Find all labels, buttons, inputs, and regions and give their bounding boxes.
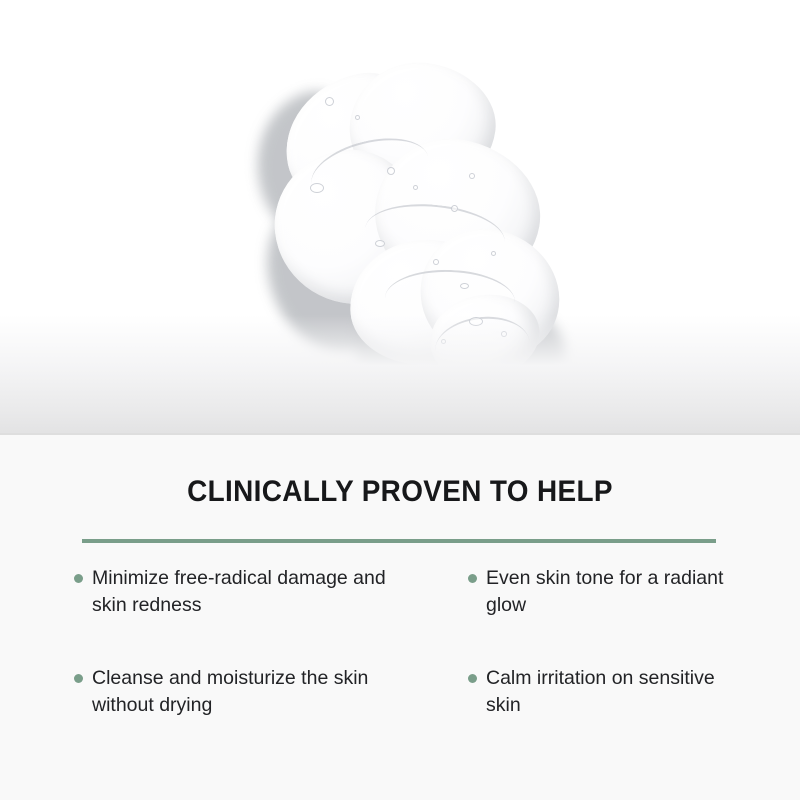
title-divider — [82, 539, 716, 543]
gel-bubble — [325, 97, 334, 106]
gel-bubble — [469, 173, 475, 179]
product-hero-image — [0, 0, 800, 435]
gel-bubble — [433, 259, 439, 265]
product-benefits-page: CLINICALLY PROVEN TO HELP Minimize free-… — [0, 0, 800, 800]
list-item: Minimize free-radical damage and skin re… — [0, 565, 405, 619]
bullet-dot-icon — [74, 674, 83, 683]
bullet-dot-icon — [468, 674, 477, 683]
benefit-text: Calm irritation on sensitive skin — [486, 665, 751, 719]
gel-bubble — [491, 251, 496, 256]
bullet-dot-icon — [468, 574, 477, 583]
list-item: Cleanse and moisturize the skin without … — [0, 665, 405, 719]
gel-bubble — [355, 115, 360, 120]
benefits-list: Minimize free-radical damage and skin re… — [0, 565, 800, 719]
gel-bubble — [413, 185, 418, 190]
gel-bubble — [310, 183, 324, 193]
benefits-row: Cleanse and moisturize the skin without … — [0, 665, 800, 719]
benefit-text: Minimize free-radical damage and skin re… — [92, 565, 392, 619]
bullet-dot-icon — [74, 574, 83, 583]
benefits-panel: CLINICALLY PROVEN TO HELP Minimize free-… — [0, 435, 800, 800]
benefit-text: Cleanse and moisturize the skin without … — [92, 665, 392, 719]
gel-bubble — [451, 205, 458, 212]
gel-bubble — [375, 240, 385, 247]
gel-bubble — [460, 283, 469, 289]
list-item: Even skin tone for a radiant glow — [405, 565, 800, 619]
page-title: CLINICALLY PROVEN TO HELP — [28, 475, 772, 509]
benefits-row: Minimize free-radical damage and skin re… — [0, 565, 800, 619]
list-item: Calm irritation on sensitive skin — [405, 665, 800, 719]
benefit-text: Even skin tone for a radiant glow — [486, 565, 751, 619]
gel-bubble — [387, 167, 395, 175]
hero-surface-gradient — [0, 315, 800, 435]
